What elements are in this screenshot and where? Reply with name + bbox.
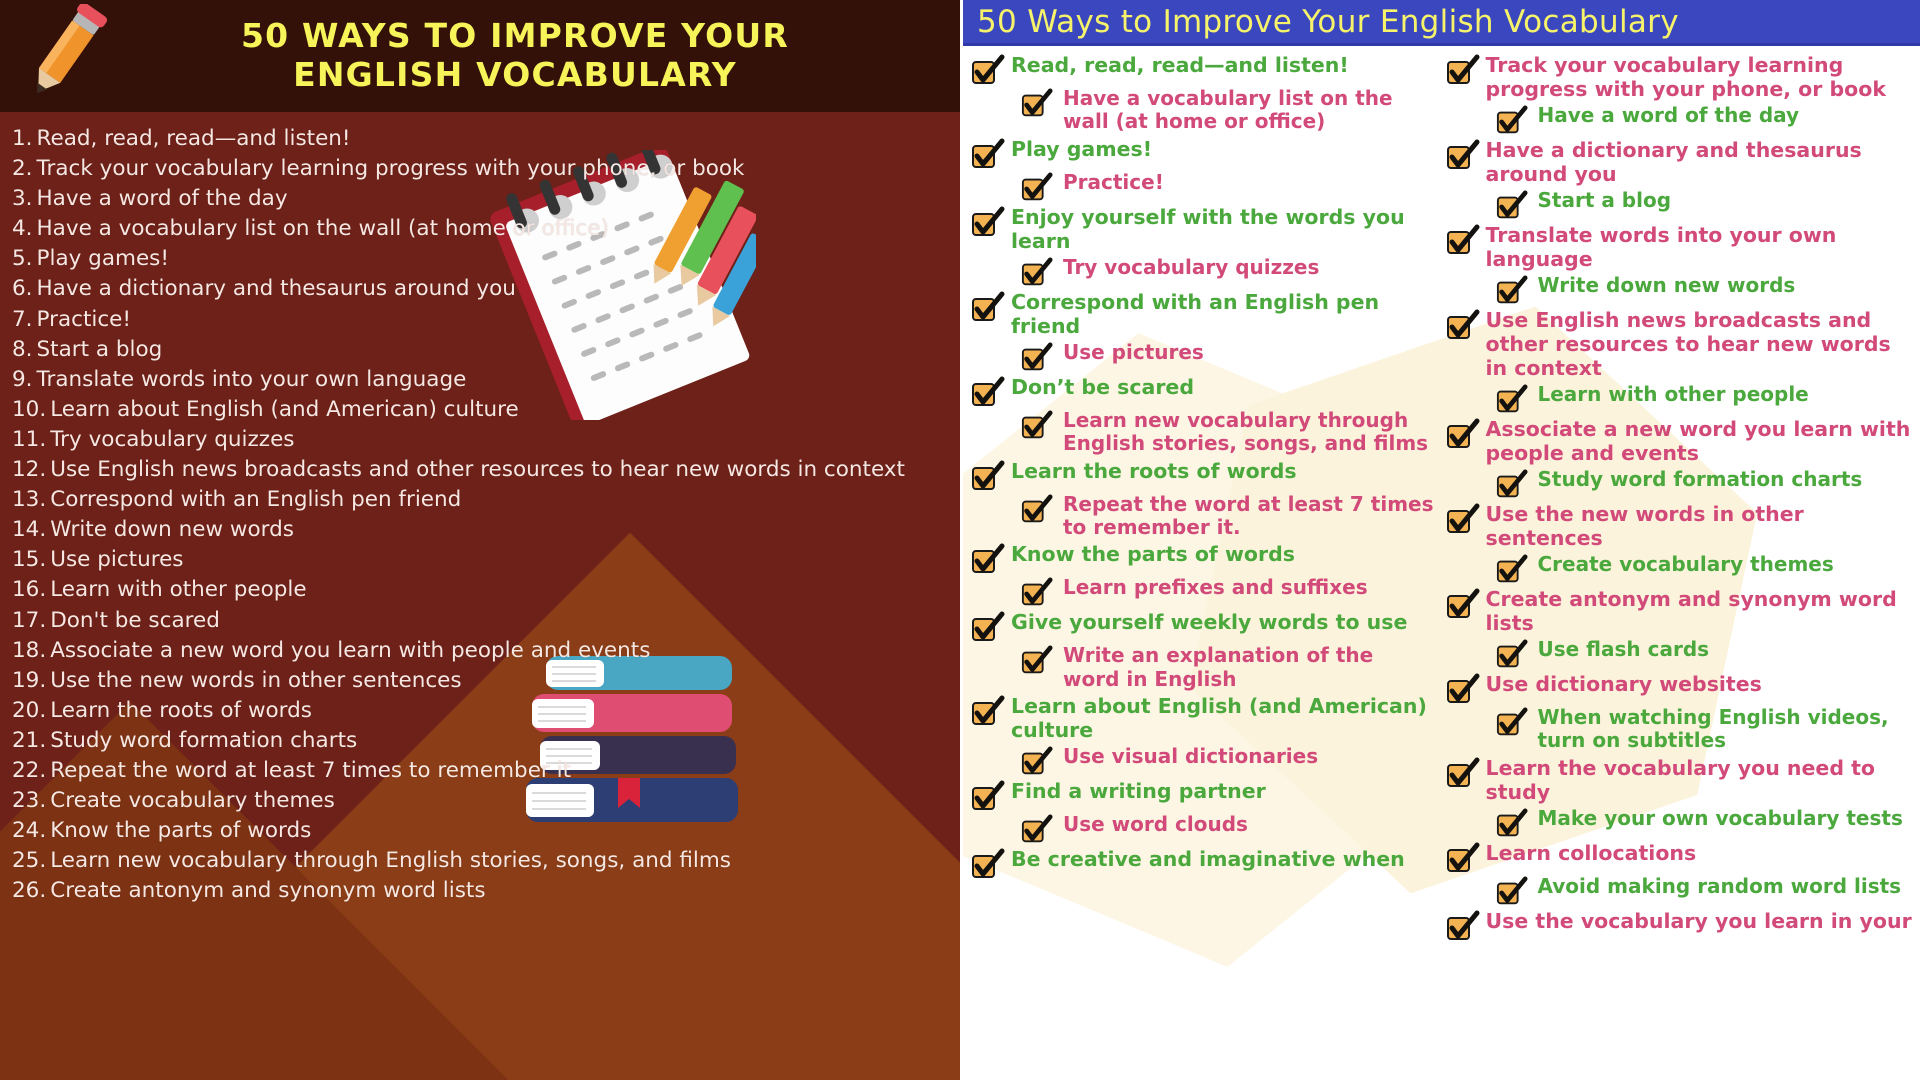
infographic-root: 50 Ways to Improve Your English Vocabula… [0, 0, 1920, 1080]
right-panel-title: 50 Ways to Improve Your English Vocabula… [977, 4, 1679, 40]
list-item: 26.Create antonym and synonym word lists [12, 880, 960, 902]
checklist-item-label: Repeat the word at least 7 times to reme… [1053, 492, 1436, 540]
list-item: 6.Have a dictionary and thesaurus around… [12, 278, 960, 300]
list-item-label: Try vocabulary quizzes [50, 427, 294, 452]
checkbox-checked-icon[interactable] [1446, 588, 1480, 618]
list-item: 14.Write down new words [12, 519, 960, 541]
list-item: 8.Start a blog [12, 339, 960, 361]
checklist-item-label: Read, read, read—and listen! [1005, 52, 1349, 77]
list-item-number: 1. [12, 126, 33, 151]
checkbox-checked-icon[interactable] [1496, 384, 1528, 414]
checkbox-checked-icon[interactable] [971, 611, 1005, 641]
checkbox-checked-icon[interactable] [1021, 645, 1053, 675]
list-item-number: 15. [12, 547, 46, 572]
checklist-item[interactable]: Play games! [971, 136, 1436, 168]
checklist-subitem[interactable]: When watching English videos, turn on su… [1446, 705, 1915, 753]
list-item-label: Have a word of the day [37, 186, 288, 211]
checklist-item-label: Find a writing partner [1005, 778, 1266, 803]
checklist-item[interactable]: Give yourself weekly words to use [971, 609, 1436, 641]
list-item-number: 8. [12, 337, 33, 362]
list-item-number: 12. [12, 457, 46, 482]
checklist-item-label: Learn new vocabulary through English sto… [1053, 408, 1436, 456]
list-item-number: 22. [12, 758, 46, 783]
checklist-item[interactable]: Find a writing partner [971, 778, 1436, 810]
list-item-number: 3. [12, 186, 33, 211]
checklist-column-1: Read, read, read—and listen!Have a vocab… [963, 52, 1442, 942]
checklist-subitem[interactable]: Avoid making random word lists [1446, 874, 1915, 906]
checklist-item-label: Don’t be scared [1005, 374, 1194, 399]
checklist-subitem[interactable]: Use pictures [971, 340, 1436, 372]
checklist-item-label: Create antonym and synonym word lists [1480, 586, 1915, 635]
list-item-label: Practice! [37, 307, 132, 332]
list-item-label: Write down new words [50, 517, 294, 542]
list-item-number: 6. [12, 276, 33, 301]
list-item-label: Learn new vocabulary through English sto… [50, 848, 731, 873]
checkbox-checked-icon[interactable] [971, 543, 1005, 573]
checklist-item[interactable]: Enjoy yourself with the words you learn [971, 204, 1436, 253]
list-item: 4.Have a vocabulary list on the wall (at… [12, 218, 960, 240]
list-item-label: Don't be scared [50, 608, 220, 633]
checklist-subitem[interactable]: Use word clouds [971, 812, 1436, 844]
checklist-item-label: Create vocabulary themes [1528, 552, 1834, 576]
checkbox-checked-icon[interactable] [1021, 577, 1053, 607]
list-item-label: Have a vocabulary list on the wall (at h… [37, 216, 609, 241]
list-item: 2.Track your vocabulary learning progres… [12, 158, 960, 180]
checkbox-checked-icon[interactable] [971, 54, 1005, 84]
checkbox-checked-icon[interactable] [971, 206, 1005, 236]
checkbox-checked-icon[interactable] [1446, 503, 1480, 533]
list-item-label: Learn the roots of words [50, 698, 312, 723]
checklist-item[interactable]: Don’t be scared [971, 374, 1436, 406]
checklist-item-label: Learn about English (and American) cultu… [1005, 693, 1436, 742]
checklist-item-label: Use dictionary websites [1480, 671, 1762, 696]
list-item: 25.Learn new vocabulary through English … [12, 850, 960, 872]
checkbox-checked-icon[interactable] [1446, 54, 1480, 84]
list-item-label: Read, read, read—and listen! [37, 126, 351, 151]
checklist-item-label: Correspond with an English pen friend [1005, 289, 1436, 338]
list-item-label: Learn with other people [50, 577, 306, 602]
checklist-subitem[interactable]: Write an explanation of the word in Engl… [971, 643, 1436, 691]
checkbox-checked-icon[interactable] [1496, 639, 1528, 669]
checklist-item-label: Have a dictionary and thesaurus around y… [1480, 137, 1915, 186]
checklist-subitem[interactable]: Learn new vocabulary through English sto… [971, 408, 1436, 456]
checklist-item-label: Learn with other people [1528, 382, 1809, 406]
list-item-number: 9. [12, 367, 33, 392]
checklist-item-label: Study word formation charts [1528, 467, 1863, 491]
checklist-item-label: When watching English videos, turn on su… [1528, 705, 1915, 753]
list-item-label: Study word formation charts [50, 728, 357, 753]
list-item-number: 25. [12, 848, 46, 873]
list-item-label: Use the new words in other sentences [50, 668, 461, 693]
checklist-subitem[interactable]: Repeat the word at least 7 times to reme… [971, 492, 1436, 540]
list-item-label: Learn about English (and American) cultu… [50, 397, 519, 422]
checkbox-checked-icon[interactable] [1021, 746, 1053, 776]
checkbox-checked-icon[interactable] [1446, 139, 1480, 169]
list-item-label: Translate words into your own language [37, 367, 467, 392]
checklist-item-label: Give yourself weekly words to use [1005, 609, 1407, 634]
list-item: 17.Don't be scared [12, 610, 960, 632]
list-item: 18.Associate a new word you learn with p… [12, 640, 960, 662]
checklist-item[interactable]: Translate words into your own language [1446, 222, 1915, 271]
list-item: 9.Translate words into your own language [12, 369, 960, 391]
list-item-label: Use English news broadcasts and other re… [50, 457, 905, 482]
checkbox-checked-icon[interactable] [1446, 309, 1480, 339]
checklist-item-label: Practice! [1053, 170, 1164, 194]
checkbox-checked-icon[interactable] [971, 376, 1005, 406]
checklist-item-label: Enjoy yourself with the words you learn [1005, 204, 1436, 253]
list-item: 10.Learn about English (and American) cu… [12, 399, 960, 421]
left-panel-title: 50 Ways to Improve Your English Vocabula… [110, 17, 960, 94]
checklist-item[interactable]: Learn about English (and American) cultu… [971, 693, 1436, 742]
right-panel: 50 Ways to Improve Your English Vocabula… [960, 0, 1920, 1080]
checklist-item[interactable]: Correspond with an English pen friend [971, 289, 1436, 338]
list-item-number: 21. [12, 728, 46, 753]
checklist-item[interactable]: Read, read, read—and listen! [971, 52, 1436, 84]
checklist-subitem[interactable]: Use flash cards [1446, 637, 1915, 669]
checklist-item-label: Make your own vocabulary tests [1528, 806, 1903, 830]
checklist-subitem[interactable]: Learn with other people [1446, 382, 1915, 414]
left-numbered-list: 1.Read, read, read—and listen!2.Track yo… [0, 112, 960, 902]
list-item-label: Correspond with an English pen friend [50, 487, 461, 512]
list-item-label: Have a dictionary and thesaurus around y… [37, 276, 516, 301]
checklist-item[interactable]: Use the new words in other sentences [1446, 501, 1915, 550]
checklist-column-2: Track your vocabulary learning progress … [1442, 52, 1920, 942]
list-item-number: 13. [12, 487, 46, 512]
checkbox-checked-icon[interactable] [971, 848, 1005, 878]
checklist-item-label: Associate a new word you learn with peop… [1480, 416, 1915, 465]
left-header: 50 Ways to Improve Your English Vocabula… [0, 0, 960, 112]
checklist-subitem[interactable]: Have a word of the day [1446, 103, 1915, 135]
checkbox-checked-icon[interactable] [1496, 808, 1528, 838]
checklist-item[interactable]: Create antonym and synonym word lists [1446, 586, 1915, 635]
checklist-item[interactable]: Use the vocabulary you learn in your [1446, 908, 1915, 940]
list-item-label: Create vocabulary themes [50, 788, 335, 813]
checklist-subitem[interactable]: Learn prefixes and suffixes [971, 575, 1436, 607]
checklist-subitem[interactable]: Have a vocabulary list on the wall (at h… [971, 86, 1436, 134]
checklist-item[interactable]: Associate a new word you learn with peop… [1446, 416, 1915, 465]
checklist-item-label: Track your vocabulary learning progress … [1480, 52, 1915, 101]
list-item: 23.Create vocabulary themes [12, 790, 960, 812]
checklist-item-label: Use word clouds [1053, 812, 1248, 836]
checkbox-checked-icon[interactable] [1021, 814, 1053, 844]
checklist-item[interactable]: Learn collocations [1446, 840, 1915, 872]
list-item-label: Play games! [37, 246, 170, 271]
list-item: 13.Correspond with an English pen friend [12, 489, 960, 511]
checklist-item-label: Learn the roots of words [1005, 458, 1297, 483]
checklist-item-label: Use the vocabulary you learn in your [1480, 908, 1912, 933]
list-item: 16.Learn with other people [12, 579, 960, 601]
list-item-number: 11. [12, 427, 46, 452]
checklist-item-label: Have a word of the day [1528, 103, 1800, 127]
checklist-item[interactable]: Use English news broadcasts and other re… [1446, 307, 1915, 380]
list-item-number: 26. [12, 878, 46, 903]
list-item-number: 2. [12, 156, 33, 181]
checkbox-checked-icon[interactable] [1446, 910, 1480, 940]
list-item: 15.Use pictures [12, 549, 960, 571]
list-item-number: 17. [12, 608, 46, 633]
list-item-number: 14. [12, 517, 46, 542]
left-panel: 50 Ways to Improve Your English Vocabula… [0, 0, 960, 1080]
checklist-subitem[interactable]: Practice! [971, 170, 1436, 202]
checklist-item[interactable]: Learn the roots of words [971, 458, 1436, 490]
checklist-item-label: Start a blog [1528, 188, 1672, 212]
checklist-item-label: Write down new words [1528, 273, 1796, 297]
list-item: 11.Try vocabulary quizzes [12, 429, 960, 451]
checklist-item-label: Use visual dictionaries [1053, 744, 1318, 768]
checklist-item-label: Play games! [1005, 136, 1152, 161]
checklist-item[interactable]: Be creative and imaginative when [971, 846, 1436, 878]
checkbox-checked-icon[interactable] [1446, 757, 1480, 787]
checklist-item-label: Write an explanation of the word in Engl… [1053, 643, 1436, 691]
checkbox-checked-icon[interactable] [1496, 469, 1528, 499]
checklist-item-label: Learn prefixes and suffixes [1053, 575, 1368, 599]
list-item-label: Track your vocabulary learning progress … [37, 156, 745, 181]
list-item-number: 19. [12, 668, 46, 693]
list-item: 1.Read, read, read—and listen! [12, 128, 960, 150]
checkbox-checked-icon[interactable] [971, 460, 1005, 490]
list-item-label: Create antonym and synonym word lists [50, 878, 485, 903]
list-item: 20.Learn the roots of words [12, 700, 960, 722]
list-item-number: 18. [12, 638, 46, 663]
list-item-label: Start a blog [37, 337, 163, 362]
checklist-subitem[interactable]: Try vocabulary quizzes [971, 255, 1436, 287]
list-item: 22.Repeat the word at least 7 times to r… [12, 760, 960, 782]
list-item-number: 20. [12, 698, 46, 723]
checklist-item[interactable]: Know the parts of words [971, 541, 1436, 573]
checkbox-checked-icon[interactable] [1496, 876, 1528, 906]
checklist-item-label: Be creative and imaginative when [1005, 846, 1405, 871]
checklist-item-label: Translate words into your own language [1480, 222, 1915, 271]
checkbox-checked-icon[interactable] [1021, 88, 1053, 118]
checklist-subitem[interactable]: Write down new words [1446, 273, 1915, 305]
checkbox-checked-icon[interactable] [1021, 257, 1053, 287]
list-item: 3.Have a word of the day [12, 188, 960, 210]
list-item: 24.Know the parts of words [12, 820, 960, 842]
list-item-number: 4. [12, 216, 33, 241]
list-item-number: 10. [12, 397, 46, 422]
list-item: 7.Practice! [12, 309, 960, 331]
checklist-subitem[interactable]: Create vocabulary themes [1446, 552, 1915, 584]
list-item-label: Associate a new word you learn with peop… [50, 638, 650, 663]
checklist-item-label: Try vocabulary quizzes [1053, 255, 1319, 279]
checklist-subitem[interactable]: Make your own vocabulary tests [1446, 806, 1915, 838]
list-item-number: 23. [12, 788, 46, 813]
list-item: 21.Study word formation charts [12, 730, 960, 752]
checklist-item-label: Use the new words in other sentences [1480, 501, 1915, 550]
list-item: 5.Play games! [12, 248, 960, 270]
checklist-item-label: Have a vocabulary list on the wall (at h… [1053, 86, 1436, 134]
checklist-subitem[interactable]: Use visual dictionaries [971, 744, 1436, 776]
checkbox-checked-icon[interactable] [1496, 105, 1528, 135]
list-item: 19.Use the new words in other sentences [12, 670, 960, 692]
list-item-label: Use pictures [50, 547, 183, 572]
checklist-item-label: Use pictures [1053, 340, 1204, 364]
list-item-number: 24. [12, 818, 46, 843]
list-item-label: Know the parts of words [50, 818, 311, 843]
checklist-subitem[interactable]: Study word formation charts [1446, 467, 1915, 499]
right-header: 50 Ways to Improve Your English Vocabula… [963, 0, 1920, 46]
pencil-icon [14, 4, 110, 108]
checkbox-checked-icon[interactable] [1446, 418, 1480, 448]
checklist-item-label: Use English news broadcasts and other re… [1480, 307, 1915, 380]
checkbox-checked-icon[interactable] [1446, 842, 1480, 872]
list-item-number: 5. [12, 246, 33, 271]
checklist-item[interactable]: Learn the vocabulary you need to study [1446, 755, 1915, 804]
checklist-item-label: Learn collocations [1480, 840, 1697, 865]
checklist-item[interactable]: Use dictionary websites [1446, 671, 1915, 703]
checkbox-checked-icon[interactable] [1021, 494, 1053, 524]
list-item-label: Repeat the word at least 7 times to reme… [50, 758, 571, 783]
checkbox-checked-icon[interactable] [971, 291, 1005, 321]
checkbox-checked-icon[interactable] [1496, 554, 1528, 584]
checkbox-checked-icon[interactable] [971, 780, 1005, 810]
checkbox-checked-icon[interactable] [1496, 190, 1528, 220]
checkbox-checked-icon[interactable] [971, 695, 1005, 725]
checkbox-checked-icon[interactable] [971, 138, 1005, 168]
right-checklist-columns: Read, read, read—and listen!Have a vocab… [963, 46, 1920, 942]
checklist-item-label: Know the parts of words [1005, 541, 1295, 566]
checkbox-checked-icon[interactable] [1496, 275, 1528, 305]
checklist-item-label: Avoid making random word lists [1528, 874, 1902, 898]
checklist-item[interactable]: Have a dictionary and thesaurus around y… [1446, 137, 1915, 186]
checkbox-checked-icon[interactable] [1021, 410, 1053, 440]
checklist-subitem[interactable]: Start a blog [1446, 188, 1915, 220]
checklist-item-label: Use flash cards [1528, 637, 1710, 661]
checkbox-checked-icon[interactable] [1021, 172, 1053, 202]
list-item-number: 16. [12, 577, 46, 602]
checklist-item[interactable]: Track your vocabulary learning progress … [1446, 52, 1915, 101]
list-item: 12.Use English news broadcasts and other… [12, 459, 960, 481]
checkbox-checked-icon[interactable] [1021, 342, 1053, 372]
checkbox-checked-icon[interactable] [1496, 707, 1528, 737]
checklist-item-label: Learn the vocabulary you need to study [1480, 755, 1915, 804]
checkbox-checked-icon[interactable] [1446, 224, 1480, 254]
list-item-number: 7. [12, 307, 33, 332]
checkbox-checked-icon[interactable] [1446, 673, 1480, 703]
